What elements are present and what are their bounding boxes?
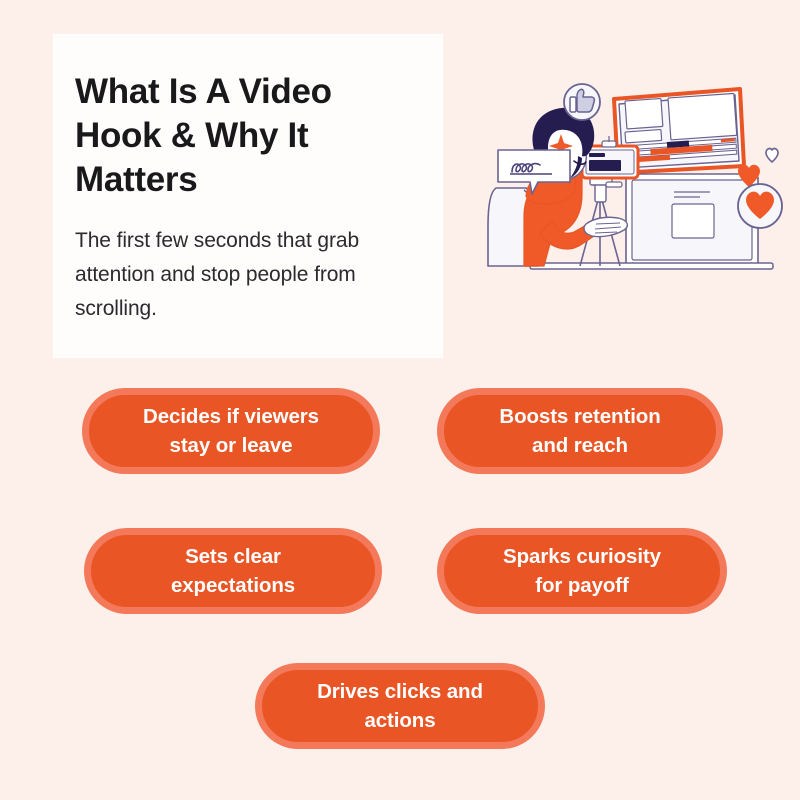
thumbs-up-icon bbox=[564, 84, 600, 120]
pill-label: Drives clicks and actions bbox=[317, 677, 483, 735]
heart-outline-icon bbox=[766, 149, 778, 162]
infographic-root: What Is A Video Hook & Why It Matters Th… bbox=[0, 0, 800, 800]
pill-label: Sets clear expectations bbox=[171, 542, 295, 600]
pill-label: Decides if viewers stay or leave bbox=[143, 402, 319, 460]
pill-line-1: Drives clicks and bbox=[317, 677, 483, 706]
pill-line-2: for payoff bbox=[503, 571, 661, 600]
pill-line-1: Boosts retention bbox=[499, 402, 660, 431]
desk bbox=[530, 263, 773, 269]
benefit-pill-sets-clear-expectations[interactable]: Sets clear expectations bbox=[84, 528, 382, 614]
monitor bbox=[626, 174, 758, 266]
benefit-pill-drives-clicks-and-actions[interactable]: Drives clicks and actions bbox=[255, 663, 545, 749]
creator-recording-video-illustration bbox=[478, 66, 790, 326]
pill-label: Sparks curiosity for payoff bbox=[503, 542, 661, 600]
pill-line-2: expectations bbox=[171, 571, 295, 600]
hand bbox=[584, 217, 627, 236]
benefit-pill-decides-if-viewers-stay-or-leave[interactable]: Decides if viewers stay or leave bbox=[82, 388, 380, 474]
pill-line-2: and reach bbox=[499, 431, 660, 460]
title-card: What Is A Video Hook & Why It Matters Th… bbox=[53, 34, 443, 358]
heart-circle-icon bbox=[738, 184, 782, 228]
benefit-pill-boosts-retention-and-reach[interactable]: Boosts retention and reach bbox=[437, 388, 723, 474]
pill-line-1: Decides if viewers bbox=[143, 402, 319, 431]
pill-label: Boosts retention and reach bbox=[499, 402, 660, 460]
benefit-pill-sparks-curiosity-for-payoff[interactable]: Sparks curiosity for payoff bbox=[437, 528, 727, 614]
page-subtitle: The first few seconds that grab attentio… bbox=[75, 224, 409, 326]
pill-line-2: actions bbox=[317, 706, 483, 735]
pill-line-2: stay or leave bbox=[143, 431, 319, 460]
pill-line-1: Sparks curiosity bbox=[503, 542, 661, 571]
page-title: What Is A Video Hook & Why It Matters bbox=[75, 70, 409, 202]
pill-line-1: Sets clear bbox=[171, 542, 295, 571]
